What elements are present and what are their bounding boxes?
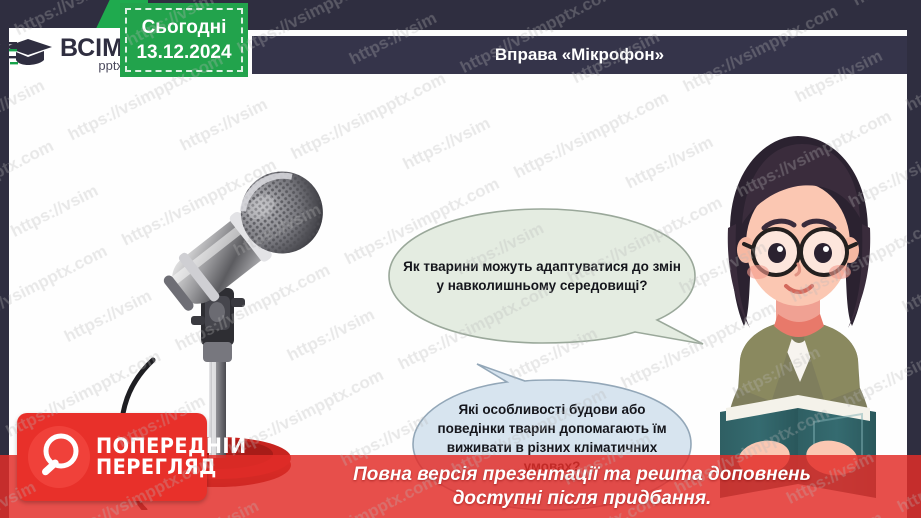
- today-date-badge: Сьогодні 13.12.2024: [120, 3, 248, 77]
- preview-line-2: ПЕРЕГЛЯД: [96, 457, 247, 478]
- slide-root: Як тварини можуть адаптуватися до змін у…: [0, 0, 921, 518]
- today-value: 13.12.2024: [136, 42, 231, 64]
- slide-title: Вправа «Мікрофон»: [495, 45, 664, 65]
- brand-logo[interactable]: ВСІМ pptx: [0, 28, 132, 80]
- right-frame-bar: [907, 0, 921, 518]
- purchase-notice-text: Повна версія презентації та решта доповн…: [252, 455, 912, 518]
- banner-line-1: Повна версія презентації та решта доповн…: [353, 463, 811, 487]
- graduation-cap-icon: [6, 35, 58, 73]
- magnifier-icon: [28, 426, 90, 488]
- today-label: Сьогодні: [142, 17, 227, 39]
- slide-title-bar: Вправа «Мікрофон»: [252, 36, 907, 74]
- preview-line-1: ПОПЕРЕДНІЙ: [96, 436, 247, 457]
- banner-line-2: доступні після придбання.: [453, 487, 712, 511]
- preview-badge[interactable]: ПОПЕРЕДНІЙ ПЕРЕГЛЯД: [17, 413, 207, 501]
- bubble-1-text: Як тварини можуть адаптуватися до змін у…: [403, 257, 681, 295]
- speech-bubble-question-1: Як тварини можуть адаптуватися до змін у…: [377, 206, 707, 346]
- left-frame-bar: [0, 0, 9, 518]
